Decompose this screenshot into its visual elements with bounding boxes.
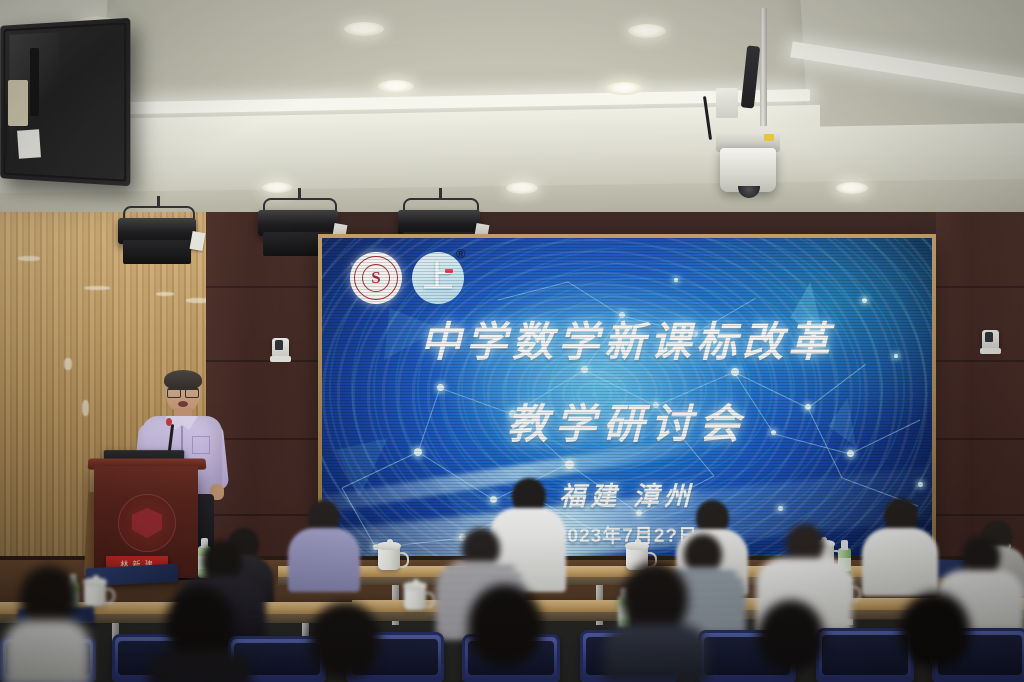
downlight-2 (628, 24, 666, 38)
downlight-7 (836, 182, 868, 194)
attendee-head (900, 592, 970, 668)
attendee-back-left (288, 500, 360, 590)
wall-mounted-camera-right (982, 330, 999, 350)
white-ceramic-tea-mug (404, 580, 430, 610)
foreground-attendee-1 (4, 566, 90, 682)
led-pixel-grid-texture (322, 238, 932, 572)
foreground-attendee-7 (884, 592, 986, 682)
attendee-head (166, 586, 234, 660)
projector-status-label (764, 134, 774, 141)
tv-mount-bracket (30, 48, 39, 116)
attendee-body (148, 650, 252, 682)
foreground-attendee-5 (604, 562, 708, 682)
attendee-body (862, 528, 938, 596)
attendee-body (4, 620, 90, 682)
wall-mounted-camera-left (272, 338, 289, 358)
foreground-attendee-2 (148, 586, 252, 682)
crest-shield-icon (132, 508, 162, 538)
led-screen: S 上 ® 中学数学新课标改革 教学研讨会 福建 漳州 2023年7月2?日 (322, 238, 932, 572)
podium-school-crest (118, 494, 176, 552)
attendee-body (604, 624, 708, 682)
presenter-hair (164, 370, 202, 390)
conference-hall-photograph: S 上 ® 中学数学新课标改革 教学研讨会 福建 漳州 2023年7月2?日 (0, 0, 1024, 682)
wall-scuff-5 (64, 358, 72, 370)
attendee-head (758, 600, 824, 672)
foreground-attendee-6 (744, 600, 840, 682)
tv-hanging-tag (17, 129, 41, 158)
presenter-mouth (178, 401, 188, 407)
ceiling (0, 0, 1024, 240)
wall-scuff-6 (82, 400, 89, 416)
presenter-shirt-pocket (192, 436, 210, 454)
wall-scuff-2 (84, 286, 110, 290)
attendee-back-right-2 (862, 498, 938, 592)
wall-scuff-1 (18, 256, 40, 261)
downlight-4 (606, 82, 642, 95)
attendee-head (20, 566, 78, 628)
tv-cable (4, 104, 7, 158)
attendee-head (310, 602, 380, 678)
glasses-icon (167, 388, 199, 396)
downlight-3 (378, 80, 414, 93)
downlight-1 (344, 22, 384, 36)
attendee-head (468, 584, 542, 666)
foreground-attendee-3 (296, 602, 396, 682)
foreground-attendee-4 (452, 584, 560, 682)
microphone-icon (166, 418, 172, 426)
projector-mount-plate (716, 88, 738, 118)
stage-light-fixture-1 (118, 206, 196, 268)
downlight-6 (506, 182, 538, 194)
tv-media-box (8, 80, 28, 126)
attendee-body (288, 528, 360, 592)
wall-scuff-3 (156, 292, 174, 296)
projector-drop-pole (760, 8, 767, 126)
white-ceramic-tea-mug (378, 540, 404, 570)
downlight-8 (262, 182, 292, 193)
